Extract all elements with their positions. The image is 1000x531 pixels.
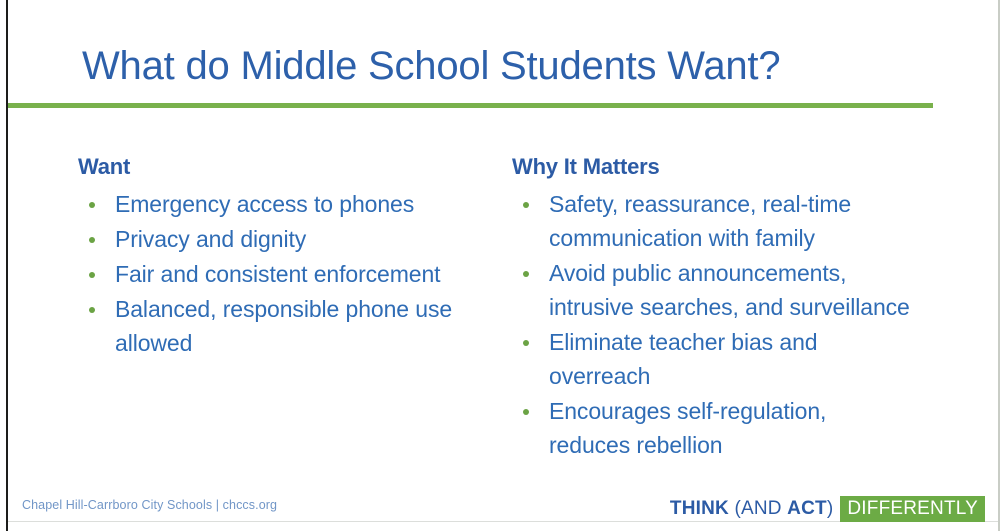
- bullet-dot-icon: [89, 202, 95, 208]
- bullet-list-why-it-matters: Safety, reassurance, real-time communica…: [512, 187, 912, 462]
- list-item: Fair and consistent enforcement: [78, 257, 498, 291]
- footer-tagline: THINK (AND ACT) DIFFERENTLY: [670, 496, 985, 522]
- tagline-close-paren: ): [827, 498, 834, 519]
- bullet-dot-icon: [523, 409, 529, 415]
- list-item-label: Encourages self-regulation, reduces rebe…: [549, 398, 826, 458]
- tagline-differently-badge: DIFFERENTLY: [840, 496, 985, 522]
- bullet-dot-icon: [523, 202, 529, 208]
- footer-district-credit: Chapel Hill-Carrboro City Schools | chcc…: [22, 498, 277, 512]
- bullet-dot-icon: [89, 307, 95, 313]
- list-item: Balanced, responsible phone use allowed: [78, 292, 498, 360]
- list-item-label: Emergency access to phones: [115, 191, 414, 217]
- column-heading-want: Want: [78, 155, 498, 179]
- list-item: Emergency access to phones: [78, 187, 498, 221]
- list-item: Avoid public announcements, intrusive se…: [512, 256, 912, 324]
- tagline-act: ACT: [787, 498, 827, 519]
- bullet-dot-icon: [523, 340, 529, 346]
- list-item-label: Fair and consistent enforcement: [115, 261, 440, 287]
- column-why-it-matters: Why It Matters Safety, reassurance, real…: [512, 155, 912, 463]
- list-item-label: Avoid public announcements, intrusive se…: [549, 260, 910, 320]
- bullet-dot-icon: [89, 237, 95, 243]
- slide-canvas: What do Middle School Students Want? Wan…: [0, 0, 1000, 531]
- column-want: Want Emergency access to phones Privacy …: [78, 155, 498, 361]
- bullet-dot-icon: [89, 272, 95, 278]
- list-item: Encourages self-regulation, reduces rebe…: [512, 394, 912, 462]
- tagline-text: THINK (AND ACT): [670, 498, 840, 520]
- list-item: Eliminate teacher bias and overreach: [512, 325, 912, 393]
- list-item-label: Privacy and dignity: [115, 226, 306, 252]
- bullet-dot-icon: [523, 271, 529, 277]
- column-heading-why-it-matters: Why It Matters: [512, 155, 912, 179]
- list-item: Safety, reassurance, real-time communica…: [512, 187, 912, 255]
- bullet-list-want: Emergency access to phones Privacy and d…: [78, 187, 498, 360]
- tagline-and-open: (AND: [729, 498, 787, 519]
- slide-left-border: [6, 0, 8, 531]
- list-item-label: Eliminate teacher bias and overreach: [549, 329, 817, 389]
- tagline-think: THINK: [670, 498, 729, 519]
- title-underline-rule: [8, 103, 933, 108]
- list-item-label: Balanced, responsible phone use allowed: [115, 296, 452, 356]
- slide-title: What do Middle School Students Want?: [82, 44, 780, 89]
- list-item-label: Safety, reassurance, real-time communica…: [549, 191, 851, 251]
- list-item: Privacy and dignity: [78, 222, 498, 256]
